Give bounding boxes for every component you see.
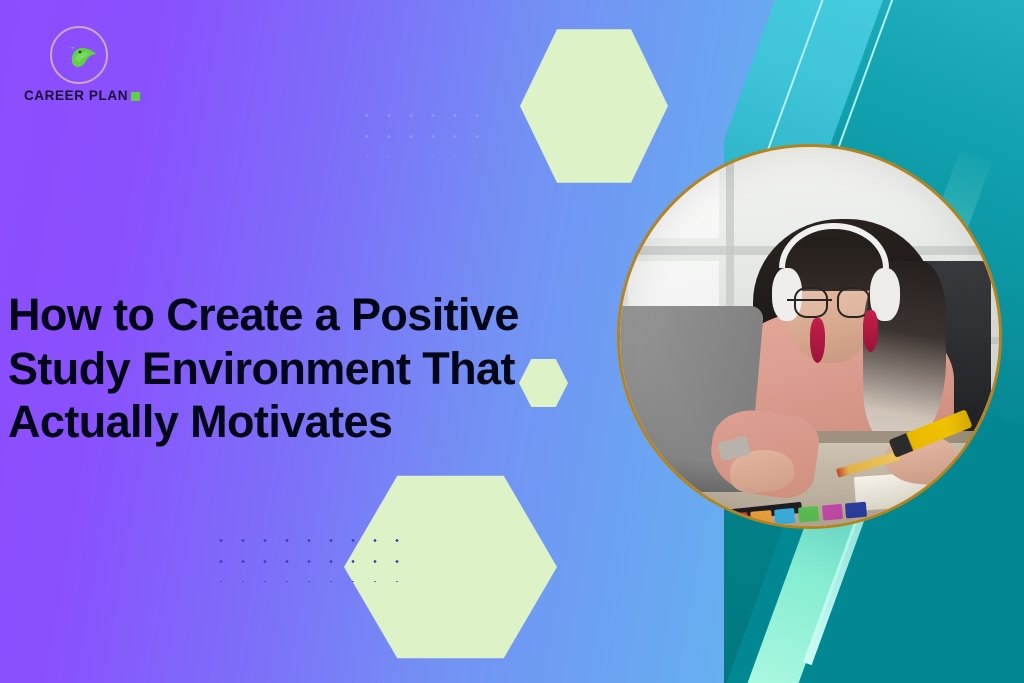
- brand-accent-square-icon: [131, 92, 140, 101]
- photo-earring-left: [810, 318, 825, 363]
- hero-photo: [617, 144, 1002, 529]
- photo-lens-left: [794, 287, 827, 317]
- photo-marker: [750, 510, 772, 526]
- bird-icon: [62, 36, 102, 81]
- dot-grid-bottom: [210, 530, 417, 582]
- brand-logo[interactable]: CAREER PLAN: [22, 26, 142, 116]
- brand-name: CAREER PLAN: [22, 88, 142, 103]
- hero-photo-scene: [620, 147, 999, 526]
- photo-marker: [845, 501, 867, 518]
- photo-marker: [726, 512, 748, 526]
- brand-name-text: CAREER PLAN: [24, 88, 128, 103]
- photo-marker: [774, 507, 796, 524]
- photo-marker: [821, 503, 843, 520]
- photo-earring-right: [863, 310, 878, 352]
- blog-banner: CAREER PLAN How to Create a Positive Stu…: [0, 0, 1024, 683]
- photo-glasses-bridge: [787, 299, 832, 301]
- dot-grid-top: [356, 105, 498, 157]
- photo-marker: [798, 505, 820, 522]
- photo-window-pane-1: [628, 155, 719, 238]
- page-title: How to Create a Positive Study Environme…: [8, 288, 608, 449]
- photo-eyeglasses: [794, 287, 870, 317]
